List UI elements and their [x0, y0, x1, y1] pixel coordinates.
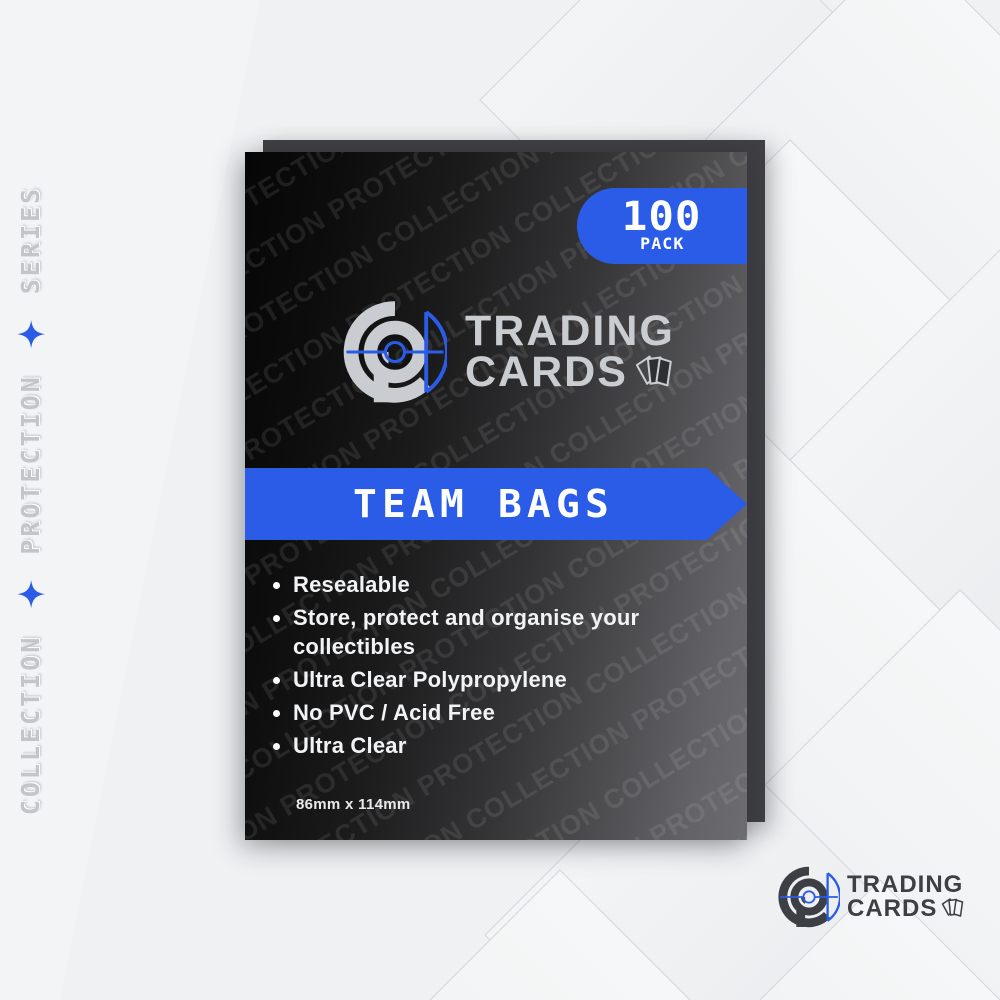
- product-name-label: TEAM BAGS: [245, 468, 747, 540]
- bullet-dot-icon: [273, 582, 280, 589]
- brand-logo-lockup: TRADING CARDS: [343, 300, 675, 404]
- product-package: COLLECTION PROTECTION COLLECTION PROTECT…: [245, 140, 765, 840]
- feature-text: Ultra Clear: [293, 731, 406, 760]
- feature-text: Resealable: [293, 570, 410, 599]
- side-strip-word-collection: COLLECTION: [17, 634, 46, 815]
- list-item: Ultra Clear: [273, 731, 693, 760]
- product-name-banner: TEAM BAGS: [245, 468, 747, 540]
- bullet-dot-icon: [273, 677, 280, 684]
- corner-brand-logo: TRADING CARDS: [778, 866, 965, 928]
- four-point-star-icon: [17, 320, 45, 348]
- list-item: Resealable: [273, 570, 693, 599]
- feature-text: Store, protect and organise your collect…: [293, 603, 693, 661]
- pack-count-value: 100: [622, 200, 702, 235]
- bullet-dot-icon: [273, 615, 280, 622]
- card-fan-icon: [939, 896, 965, 919]
- pack-count-badge: 100 PACK: [577, 188, 747, 264]
- brand-line-trading: TRADING: [465, 312, 675, 352]
- list-item: Ultra Clear Polypropylene: [273, 665, 693, 694]
- list-item: No PVC / Acid Free: [273, 698, 693, 727]
- brand-line-cards: CARDS: [465, 353, 628, 393]
- side-strip-word-series: SERIES: [17, 185, 46, 293]
- product-dimensions: 86mm x 114mm: [296, 796, 411, 813]
- corner-brand-line-cards: CARDS: [847, 898, 937, 920]
- list-item: Store, protect and organise your collect…: [273, 603, 693, 661]
- trading-cards-p-emblem-icon: [343, 300, 447, 404]
- bullet-dot-icon: [273, 710, 280, 717]
- four-point-star-icon: [17, 580, 45, 608]
- bullet-dot-icon: [273, 743, 280, 750]
- feature-list: Resealable Store, protect and organise y…: [273, 570, 693, 764]
- trading-cards-p-emblem-icon: [778, 866, 840, 928]
- corner-brand-line-trading: TRADING: [847, 874, 965, 896]
- side-strip-word-protection: PROTECTION: [17, 374, 46, 555]
- card-fan-icon: [631, 351, 675, 391]
- feature-text: No PVC / Acid Free: [293, 698, 495, 727]
- side-series-strip: COLLECTION PROTECTION SERIES: [0, 0, 62, 1000]
- front-bag-panel: COLLECTION PROTECTION COLLECTION PROTECT…: [245, 152, 747, 840]
- pack-count-label: PACK: [640, 235, 684, 253]
- feature-text: Ultra Clear Polypropylene: [293, 665, 567, 694]
